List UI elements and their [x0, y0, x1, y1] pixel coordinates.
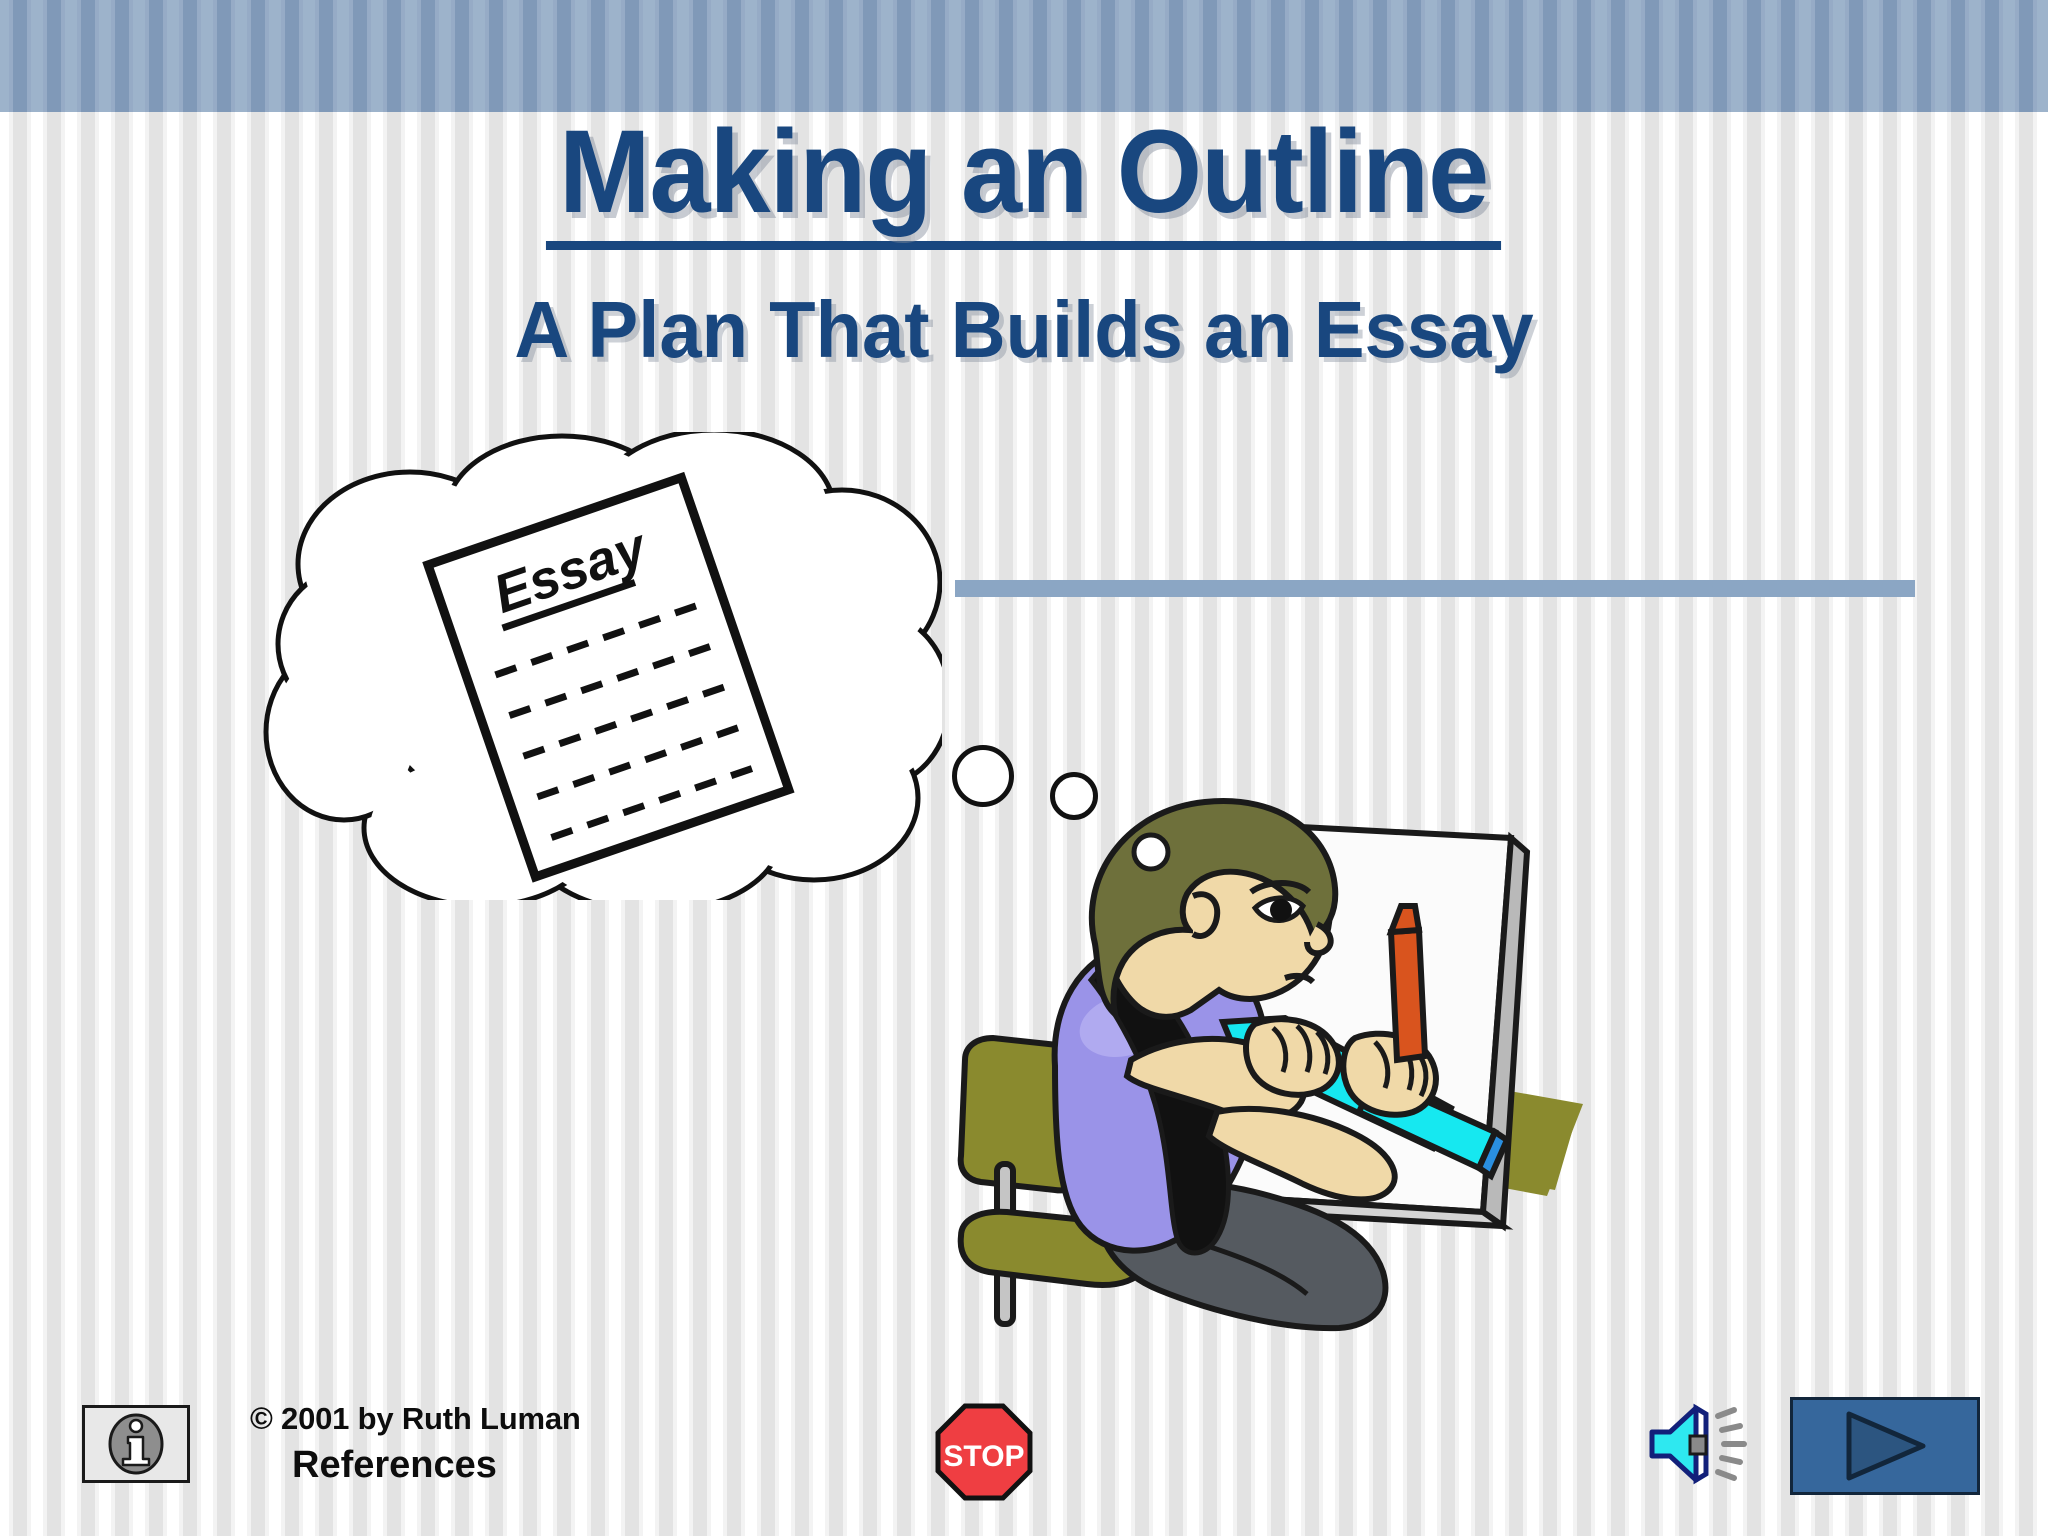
- stop-sign-label: STOP: [943, 1440, 1024, 1473]
- title-block: Making an Outline A Plan That Builds an …: [0, 110, 2048, 376]
- sound-button[interactable]: [1648, 1398, 1756, 1490]
- references-info-button[interactable]: [82, 1405, 190, 1483]
- page-title: Making an Outline: [546, 110, 1501, 250]
- references-label[interactable]: References: [292, 1443, 810, 1489]
- speaker-icon: [1648, 1398, 1756, 1490]
- page-subtitle: A Plan That Builds an Essay: [51, 284, 1997, 376]
- copyright-text: © 2001 by Ruth Luman: [250, 1400, 810, 1439]
- info-icon: [106, 1413, 166, 1475]
- student-illustration: [955, 760, 1675, 1380]
- student-illustration-svg: [955, 760, 1675, 1380]
- pencil: [1391, 906, 1425, 1060]
- divider-rule: [955, 580, 1915, 597]
- top-banner: [0, 0, 2048, 112]
- stop-sign-icon: STOP: [935, 1403, 1033, 1501]
- credit-block: © 2001 by Ruth Luman References: [250, 1400, 810, 1488]
- play-triangle-icon: [1839, 1410, 1931, 1482]
- next-slide-button[interactable]: [1790, 1397, 1980, 1495]
- presentation-slide: Making an Outline A Plan That Builds an …: [0, 0, 2048, 1536]
- stop-button[interactable]: STOP: [935, 1403, 1033, 1501]
- thought-bubble: Essay: [262, 432, 942, 900]
- thought-bubble-svg: Essay: [262, 432, 942, 900]
